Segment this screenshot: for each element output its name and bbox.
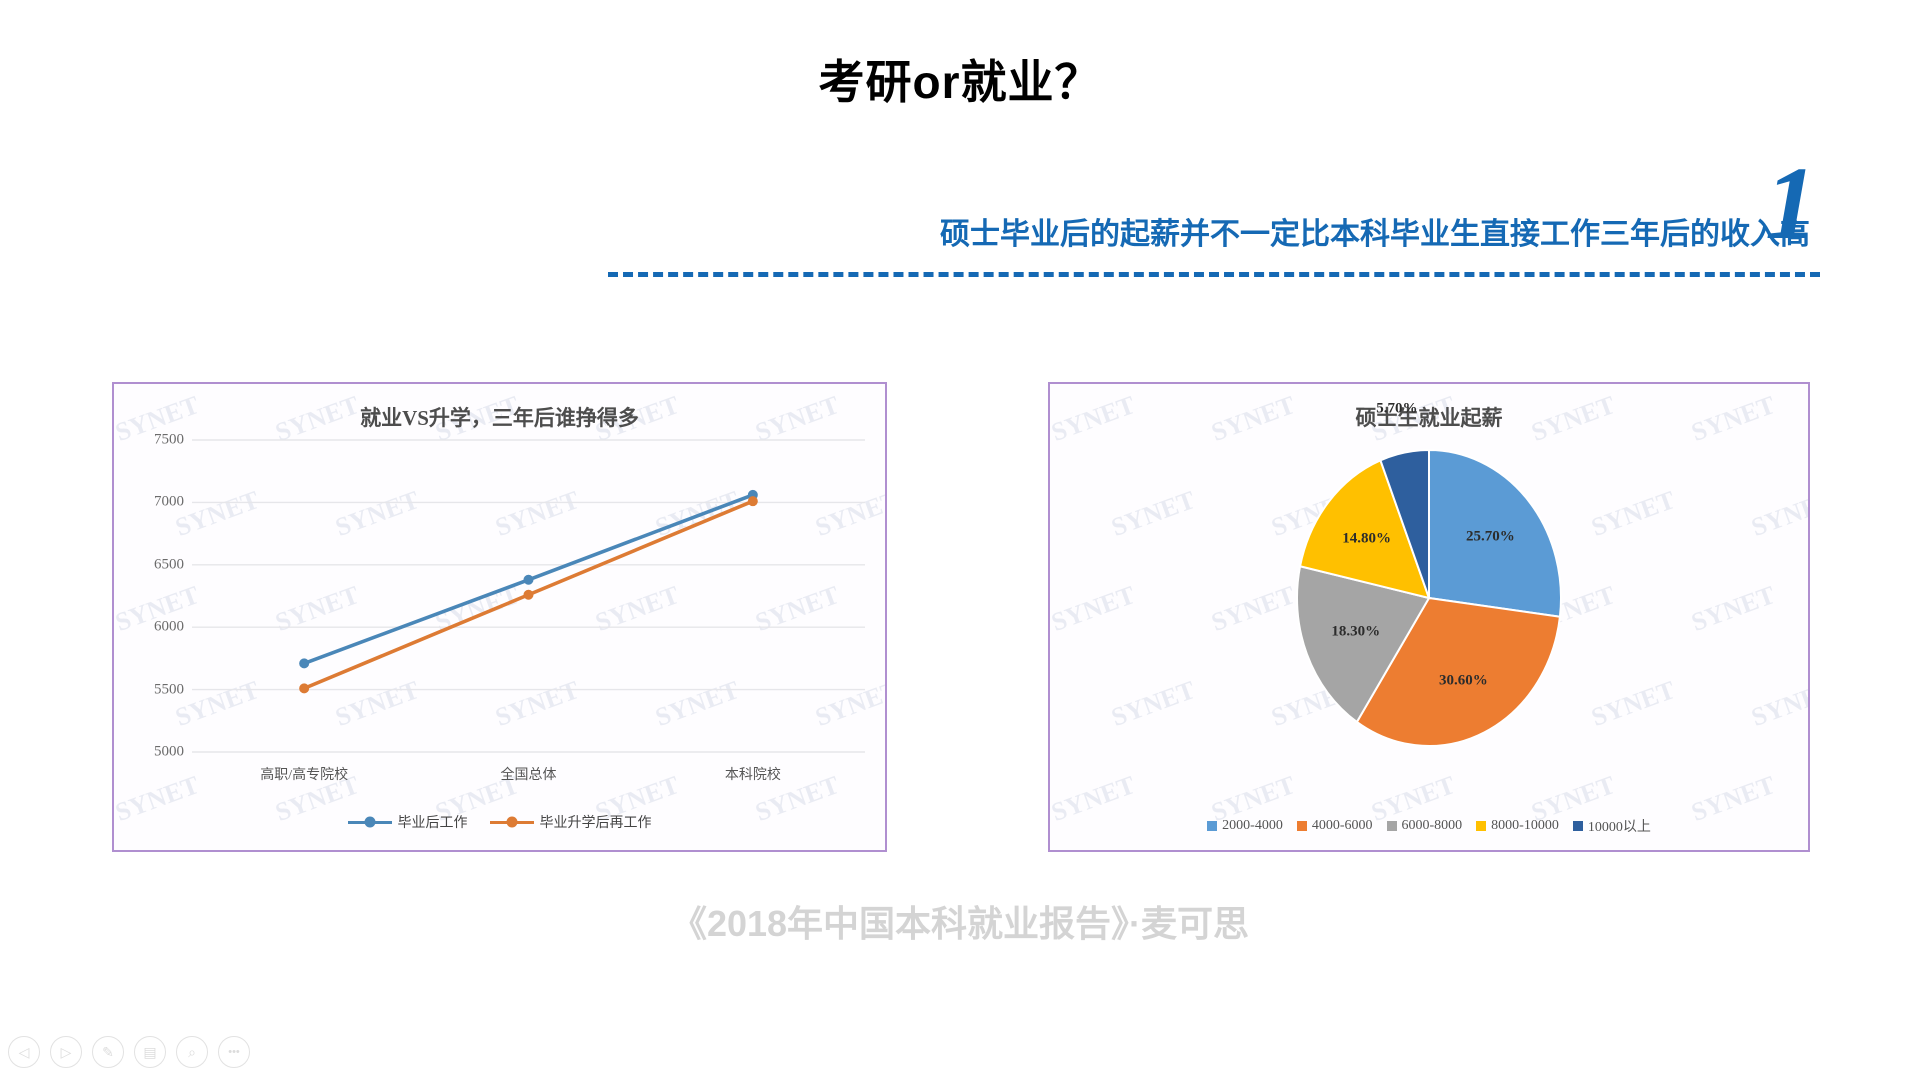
line-chart-plot: 500055006000650070007500高职/高专院校全国总体本科院校 <box>114 424 885 804</box>
legend-label: 毕业升学后再工作 <box>540 812 652 832</box>
legend-swatch-icon <box>1207 821 1217 831</box>
legend-label: 毕业后工作 <box>398 812 468 832</box>
data-point <box>299 683 309 693</box>
more-options-icon[interactable]: ••• <box>218 1036 250 1068</box>
toolbar-icon-glyph: ⌕ <box>188 1045 196 1059</box>
previous-icon[interactable]: ◁ <box>8 1036 40 1068</box>
next-icon[interactable]: ▷ <box>50 1036 82 1068</box>
pie-chart-plot: 25.70%30.60%18.30%14.80%5.70% <box>1050 424 1808 804</box>
toolbar-icon-glyph: ••• <box>228 1047 240 1058</box>
pie-slice-label: 18.30% <box>1331 623 1380 640</box>
pie-slice-label: 25.70% <box>1466 529 1515 546</box>
line-chart-svg <box>114 424 885 804</box>
legend-item[interactable]: 毕业升学后再工作 <box>490 812 652 832</box>
legend-label: 8000-10000 <box>1491 818 1559 834</box>
toolbar-icon-glyph: ▤ <box>143 1045 156 1059</box>
legend-swatch-icon <box>1573 821 1583 831</box>
data-point <box>524 575 534 585</box>
legend-marker-icon <box>348 821 392 824</box>
page-title: 考研or就业？ <box>0 46 1920 112</box>
x-axis-tick: 本科院校 <box>725 764 781 784</box>
legend-item[interactable]: 毕业后工作 <box>348 812 468 832</box>
line-chart-legend: 毕业后工作毕业升学后再工作 <box>114 812 885 832</box>
search-icon[interactable]: ⌕ <box>176 1036 208 1068</box>
legend-swatch-icon <box>1297 821 1307 831</box>
legend-label: 6000-8000 <box>1402 818 1463 834</box>
legend-item[interactable]: 6000-8000 <box>1387 818 1463 834</box>
legend-item[interactable]: 10000以上 <box>1573 816 1651 836</box>
legend-label: 4000-6000 <box>1312 818 1373 834</box>
pen-icon[interactable]: ✎ <box>92 1036 124 1068</box>
toolbar-icon-glyph: ✎ <box>102 1045 114 1059</box>
x-axis-tick: 全国总体 <box>501 764 557 784</box>
legend-swatch-icon <box>1476 821 1486 831</box>
toolbar-icon-glyph: ▷ <box>61 1045 72 1059</box>
pie-chart-panel: SYNETSYNETSYNETSYNETSYNETSYNETSYNETSYNET… <box>1048 382 1810 852</box>
pie-slice-label: 5.70% <box>1376 401 1417 418</box>
line-chart-panel: SYNETSYNETSYNETSYNETSYNETSYNETSYNETSYNET… <box>112 382 887 852</box>
subtitle-band: 硕士毕业后的起薪并不一定比本科毕业生直接工作三年后的收入高 <box>600 212 1820 292</box>
dashed-divider <box>608 272 1820 277</box>
legend-label: 2000-4000 <box>1222 818 1283 834</box>
legend-item[interactable]: 8000-10000 <box>1476 818 1559 834</box>
legend-item[interactable]: 2000-4000 <box>1207 818 1283 834</box>
legend-item[interactable]: 4000-6000 <box>1297 818 1373 834</box>
pie-slice-label: 30.60% <box>1439 673 1488 690</box>
legend-swatch-icon <box>1387 821 1397 831</box>
viewer-toolbar: ◁▷✎▤⌕••• <box>8 1036 250 1068</box>
legend-label: 10000以上 <box>1588 816 1651 836</box>
toolbar-icon-glyph: ◁ <box>19 1045 30 1059</box>
subtitle-text: 硕士毕业后的起薪并不一定比本科毕业生直接工作三年后的收入高 <box>940 212 1810 258</box>
legend-marker-icon <box>490 821 534 824</box>
data-point <box>299 658 309 668</box>
slides-grid-icon[interactable]: ▤ <box>134 1036 166 1068</box>
pie-chart-legend: 2000-40004000-60006000-80008000-10000100… <box>1050 816 1808 836</box>
data-point <box>524 590 534 600</box>
section-number: 1 <box>1765 152 1817 256</box>
pie-chart-svg <box>1279 438 1579 758</box>
source-caption: 《2018年中国本科就业报告》·麦可思 <box>0 895 1920 947</box>
data-point <box>748 496 758 506</box>
pie-slice-label: 14.80% <box>1342 530 1391 547</box>
x-axis-tick: 高职/高专院校 <box>260 764 348 784</box>
